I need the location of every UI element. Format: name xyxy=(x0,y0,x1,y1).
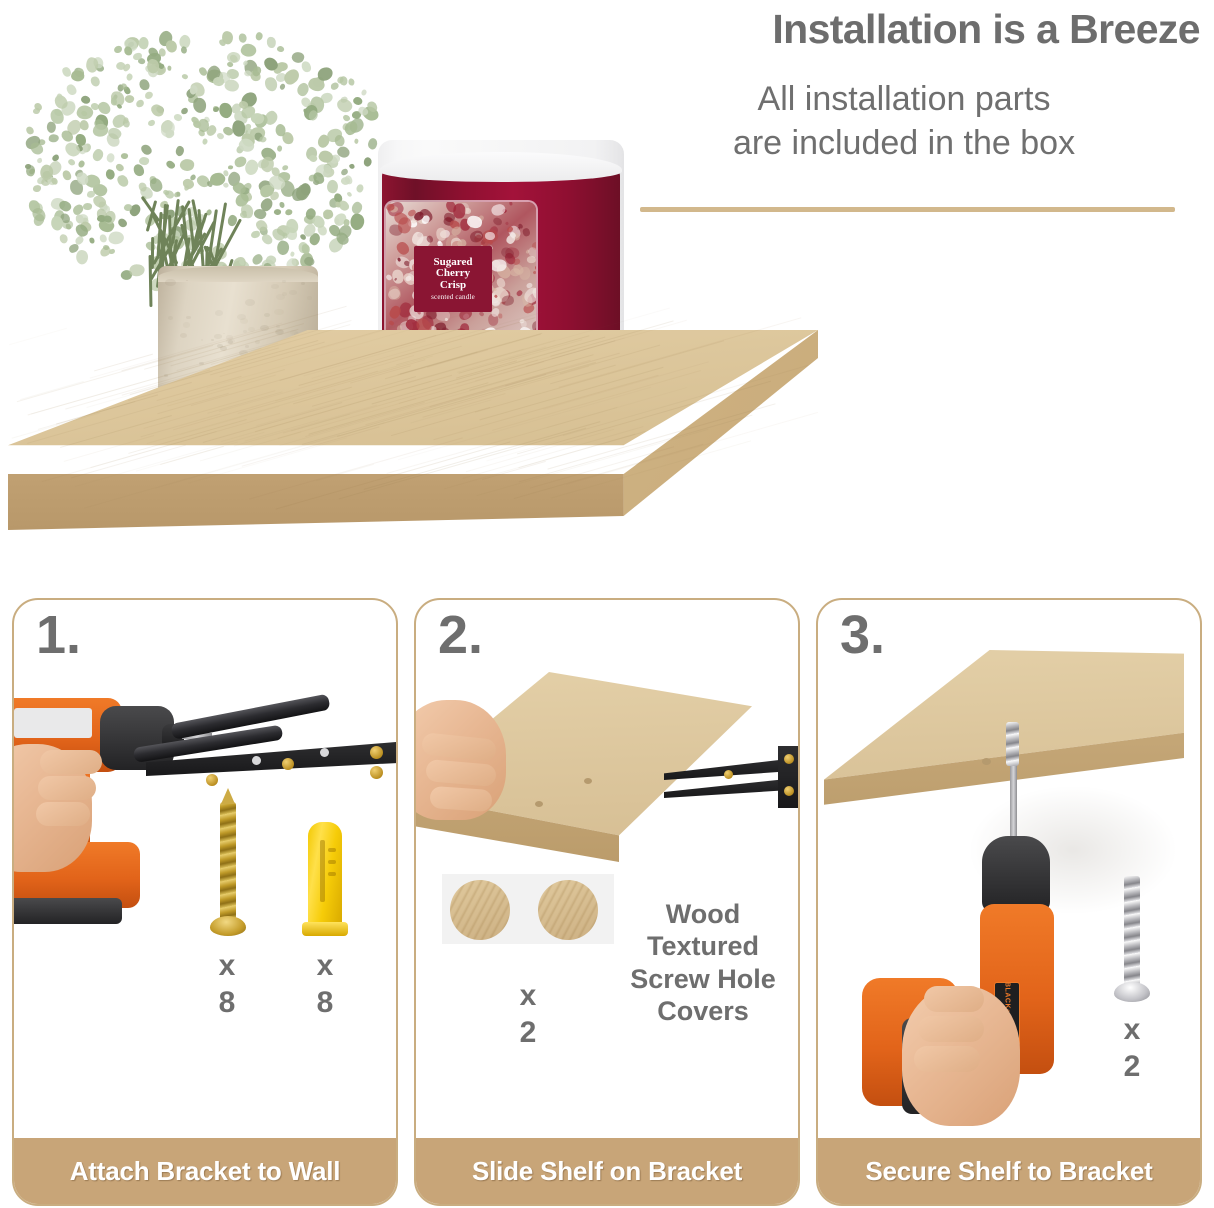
floating-shelf xyxy=(8,330,818,560)
step-number-1: 1. xyxy=(36,608,81,662)
step-2-illustration: x 2 Wood Textured Screw Hole Covers xyxy=(416,600,798,1140)
drill-battery-base xyxy=(12,898,122,924)
power-drill: BLACK+DECKER xyxy=(848,800,1128,1120)
anchor-rib xyxy=(328,848,336,852)
fastener-gold-screw xyxy=(210,788,244,938)
hand xyxy=(414,700,526,850)
fastener-wall-anchor xyxy=(302,822,348,940)
steps-row: x 8 x 8 1. Attach Bracket to Wall xyxy=(0,598,1214,1208)
step-caption-1: Attach Bracket to Wall xyxy=(70,1156,341,1187)
quantity-value: 8 xyxy=(294,985,356,1022)
step-number-2: 2. xyxy=(438,608,483,662)
candle-name-line2: Cherry xyxy=(436,268,470,280)
drill-bit xyxy=(1010,758,1017,844)
fastener-silver-screw xyxy=(1114,864,1150,1004)
finger xyxy=(36,802,90,826)
screw-hole-cover xyxy=(538,880,598,940)
quantity-anchor: x 8 xyxy=(294,948,356,1021)
bracket-screw xyxy=(282,758,294,770)
step-caption-bar-2: Slide Shelf on Bracket xyxy=(416,1138,798,1204)
foliage xyxy=(14,4,384,304)
candle-label-badge: Sugared Cherry Crisp scented candle xyxy=(414,246,492,312)
wall-bracket xyxy=(654,740,800,820)
quantity-value: 8 xyxy=(196,985,258,1022)
covers-line-3: Screw Hole xyxy=(612,963,794,995)
anchor-slot xyxy=(320,840,325,902)
step-card-2: x 2 Wood Textured Screw Hole Covers 2. S… xyxy=(414,598,800,1206)
anchor-rib xyxy=(328,872,336,876)
multiplier-symbol: x xyxy=(1102,1012,1162,1049)
multiplier-symbol: x xyxy=(294,948,356,985)
hero-subtitle: All installation parts are included in t… xyxy=(644,78,1164,165)
step-caption-3: Secure Shelf to Bracket xyxy=(865,1156,1152,1187)
covers-description: Wood Textured Screw Hole Covers xyxy=(612,898,794,1028)
finger xyxy=(429,786,492,812)
anchor-flange xyxy=(302,922,348,936)
screw-head xyxy=(1114,982,1150,1002)
candle-name-line3: Crisp xyxy=(440,280,466,292)
wall-bracket xyxy=(124,696,394,826)
drill-label-sticker xyxy=(14,708,92,738)
step-card-3: BLACK+DECKER x 2 xyxy=(816,598,1202,1206)
page-title: Installation is a Breeze xyxy=(772,6,1200,53)
hero-subtitle-line2: are included in the box xyxy=(644,122,1164,166)
step-number-3: 3. xyxy=(840,608,885,662)
screw-being-driven xyxy=(1006,722,1019,766)
hero-subtitle-line1: All installation parts xyxy=(644,78,1164,122)
anchor-body xyxy=(308,822,342,928)
infographic-page: Sugared Cherry Crisp scented candle Inst… xyxy=(0,0,1214,1208)
quantity-value: 2 xyxy=(1102,1049,1162,1086)
step-caption-bar-1: Attach Bracket to Wall xyxy=(14,1138,396,1204)
covers-line-4: Covers xyxy=(612,995,794,1027)
bracket-plate xyxy=(664,778,796,798)
finger xyxy=(914,1046,980,1072)
hero-section: Sugared Cherry Crisp scented candle Inst… xyxy=(0,0,1214,585)
quantity-screw: x 8 xyxy=(196,948,258,1021)
step-1-illustration: x 8 x 8 xyxy=(14,600,396,1140)
screw-hole-covers-panel xyxy=(442,874,614,944)
bracket-screw xyxy=(784,786,794,796)
bracket-screw xyxy=(724,770,733,779)
step-caption-bar-3: Secure Shelf to Bracket xyxy=(818,1138,1200,1204)
covers-line-1: Wood xyxy=(612,898,794,930)
bracket-hole xyxy=(252,756,261,765)
quantity-covers: x 2 xyxy=(498,978,558,1051)
finger xyxy=(40,750,102,774)
quantity-value: 2 xyxy=(498,1015,558,1052)
screw-hole-cover xyxy=(450,880,510,940)
finger xyxy=(918,1016,984,1042)
finger xyxy=(924,986,984,1012)
jar-rim xyxy=(380,152,622,182)
step-caption-2: Slide Shelf on Bracket xyxy=(472,1156,742,1187)
drill-chuck-collar xyxy=(982,836,1050,912)
finger xyxy=(38,776,96,800)
bracket-screw xyxy=(370,746,383,759)
step-card-1: x 8 x 8 1. Attach Bracket to Wall xyxy=(12,598,398,1206)
multiplier-symbol: x xyxy=(498,978,558,1015)
screw-head xyxy=(210,916,246,936)
bracket-screw xyxy=(206,774,218,786)
screw-shaft xyxy=(220,802,236,928)
step-3-illustration: BLACK+DECKER x 2 xyxy=(818,600,1200,1140)
anchor-rib xyxy=(328,860,336,864)
covers-line-2: Textured xyxy=(612,930,794,962)
candle-subtext: scented candle xyxy=(431,294,475,301)
bracket-hole xyxy=(320,748,329,757)
screw-shaft xyxy=(1124,876,1140,992)
title-divider xyxy=(640,207,1175,212)
quantity-screw: x 2 xyxy=(1102,1012,1162,1085)
bracket-screw xyxy=(784,754,794,764)
multiplier-symbol: x xyxy=(196,948,258,985)
bracket-screw xyxy=(370,766,383,779)
